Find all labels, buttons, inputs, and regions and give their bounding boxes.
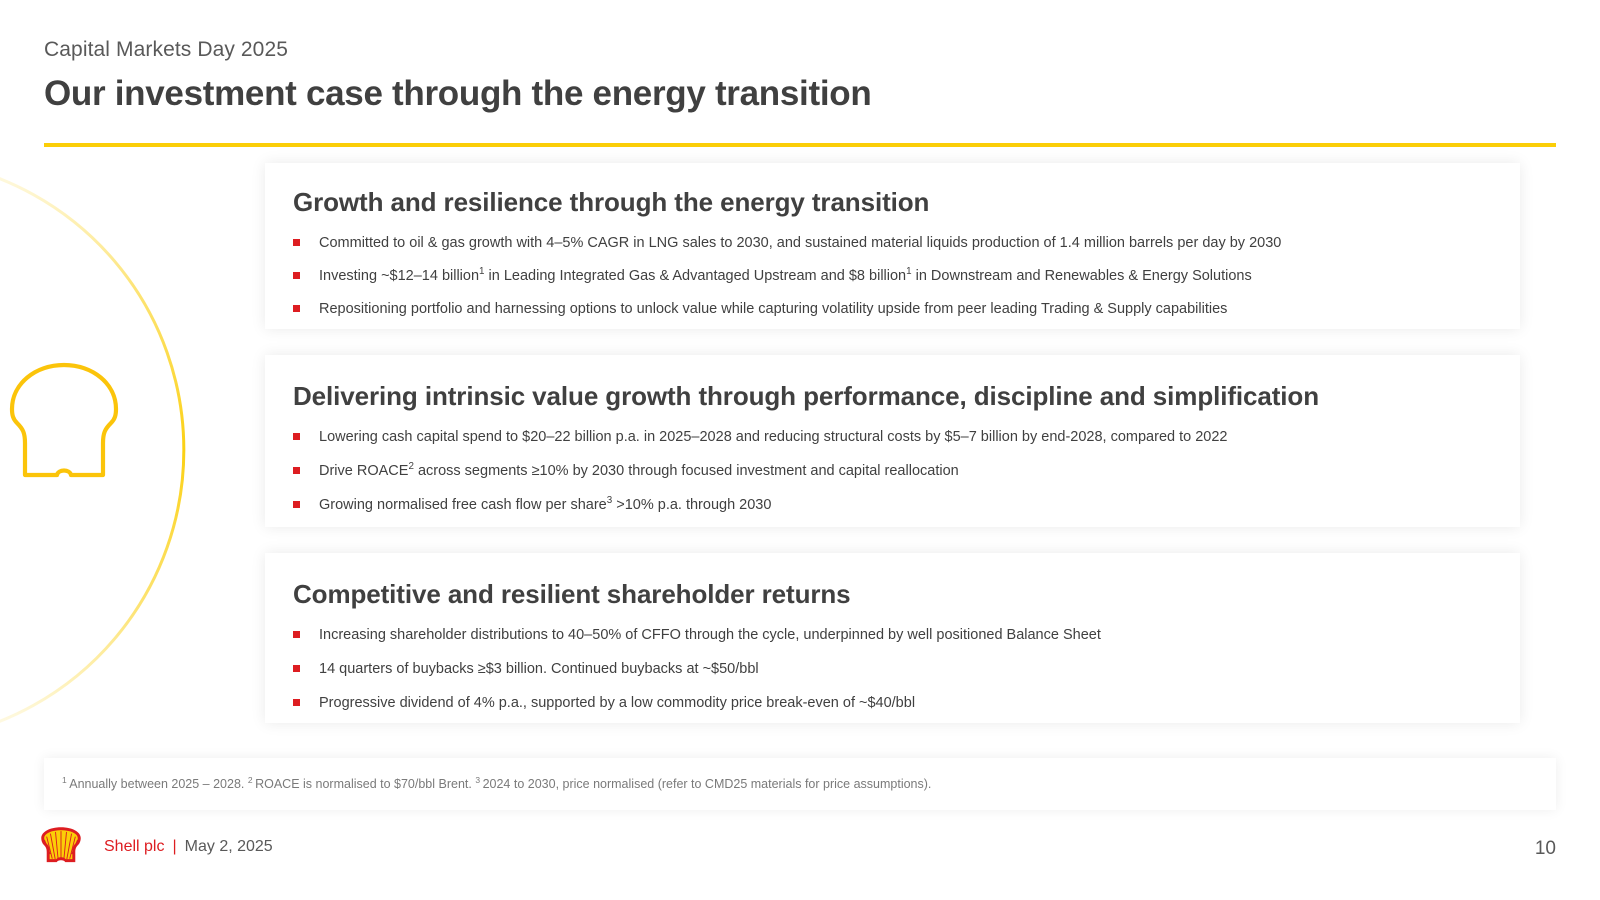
eyebrow-label: Capital Markets Day 2025 bbox=[44, 36, 871, 63]
content-card: Growth and resilience through the energy… bbox=[265, 163, 1520, 329]
bullet-text: Committed to oil & gas growth with 4–5% … bbox=[319, 234, 1520, 253]
list-item: Growing normalised free cash flow per sh… bbox=[293, 496, 1520, 515]
list-item: 14 quarters of buybacks ≥$3 billion. Con… bbox=[293, 660, 1520, 679]
bullet-square-icon bbox=[293, 631, 300, 638]
footnote-card: 1 Annually between 2025 – 2028. 2 ROACE … bbox=[44, 758, 1556, 810]
bullet-text: Lowering cash capital spend to $20–22 bi… bbox=[319, 428, 1520, 447]
footer-separator: | bbox=[172, 839, 176, 855]
footer-date-label: May 2, 2025 bbox=[185, 839, 273, 855]
bullet-square-icon bbox=[293, 665, 300, 672]
bullet-square-icon bbox=[293, 699, 300, 706]
bullet-square-icon bbox=[293, 272, 300, 279]
page-title: Our investment case through the energy t… bbox=[44, 70, 871, 117]
card-heading: Competitive and resilient shareholder re… bbox=[265, 553, 1520, 610]
list-item: Repositioning portfolio and harnessing o… bbox=[293, 300, 1520, 319]
list-item: Investing ~$12–14 billion1 in Leading In… bbox=[293, 267, 1520, 286]
bullet-list: Increasing shareholder distributions to … bbox=[265, 626, 1520, 713]
footer-text-group: Shell plc | May 2, 2025 bbox=[104, 839, 273, 855]
bullet-text: Investing ~$12–14 billion1 in Leading In… bbox=[319, 267, 1520, 286]
list-item: Progressive dividend of 4% p.a., support… bbox=[293, 694, 1520, 713]
slide-header: Capital Markets Day 2025 Our investment … bbox=[44, 36, 871, 118]
list-item: Drive ROACE2 across segments ≥10% by 203… bbox=[293, 462, 1520, 481]
shell-pecten-outline-watermark bbox=[0, 150, 280, 750]
bullet-text: Progressive dividend of 4% p.a., support… bbox=[319, 694, 1520, 713]
bullet-list: Lowering cash capital spend to $20–22 bi… bbox=[265, 428, 1520, 515]
bullet-square-icon bbox=[293, 305, 300, 312]
title-divider bbox=[44, 143, 1556, 147]
slide-footer: Shell plc | May 2, 2025 bbox=[40, 826, 273, 868]
content-card: Delivering intrinsic value growth throug… bbox=[265, 355, 1520, 527]
pecten-outline-shape bbox=[12, 365, 116, 475]
footer-brand-label: Shell plc bbox=[104, 839, 164, 855]
bullet-text: Increasing shareholder distributions to … bbox=[319, 626, 1520, 645]
list-item: Increasing shareholder distributions to … bbox=[293, 626, 1520, 645]
card-heading: Growth and resilience through the energy… bbox=[265, 163, 1520, 218]
bullet-text: 14 quarters of buybacks ≥$3 billion. Con… bbox=[319, 660, 1520, 679]
slide-root: Capital Markets Day 2025 Our investment … bbox=[0, 0, 1600, 900]
bullet-text: Growing normalised free cash flow per sh… bbox=[319, 496, 1520, 515]
bullet-square-icon bbox=[293, 467, 300, 474]
bullet-list: Committed to oil & gas growth with 4–5% … bbox=[265, 234, 1520, 319]
page-number: 10 bbox=[1535, 838, 1556, 860]
bullet-square-icon bbox=[293, 433, 300, 440]
bullet-square-icon bbox=[293, 501, 300, 508]
list-item: Committed to oil & gas growth with 4–5% … bbox=[293, 234, 1520, 253]
shell-pecten-icon bbox=[40, 826, 82, 868]
list-item: Lowering cash capital spend to $20–22 bi… bbox=[293, 428, 1520, 447]
yellow-arc-decoration bbox=[0, 162, 184, 738]
content-card: Competitive and resilient shareholder re… bbox=[265, 553, 1520, 723]
bullet-text: Repositioning portfolio and harnessing o… bbox=[319, 300, 1520, 319]
footnote-text: 1 Annually between 2025 – 2028. 2 ROACE … bbox=[44, 776, 931, 792]
bullet-square-icon bbox=[293, 239, 300, 246]
card-heading: Delivering intrinsic value growth throug… bbox=[265, 355, 1520, 412]
bullet-text: Drive ROACE2 across segments ≥10% by 203… bbox=[319, 462, 1520, 481]
